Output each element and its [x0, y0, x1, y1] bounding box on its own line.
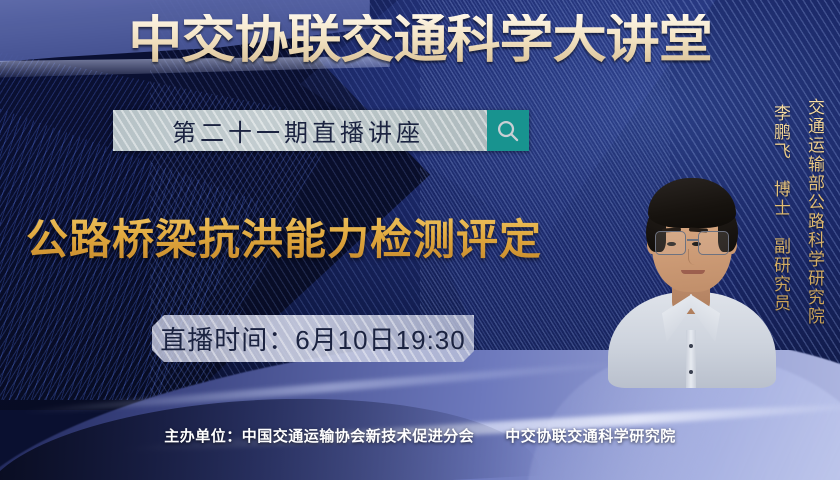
episode-label: 第二十一期直播讲座 — [172, 113, 428, 148]
glasses-lens-right — [698, 231, 729, 255]
organizers-footer: 主办单位：中国交通运输协会新技术促进分会 中交协联交通科学研究院 — [0, 425, 840, 446]
portrait-hair-top — [648, 178, 736, 228]
speaker-name-title: 李鹏飞 博士 副研究员 — [771, 104, 790, 313]
episode-banner: 第二十一期直播讲座 — [113, 110, 529, 151]
glasses-lens-left — [655, 231, 686, 255]
episode-banner-body: 第二十一期直播讲座 — [113, 110, 487, 151]
portrait-mouth — [681, 270, 705, 274]
portrait-shirt-button-bottom — [689, 370, 693, 374]
page-title: 中交协联交通科学大讲堂 — [0, 14, 840, 66]
portrait-shirt-button-top — [689, 344, 693, 348]
glasses-bridge — [687, 239, 698, 241]
speaker-portrait — [624, 142, 758, 388]
lecture-headline: 公路桥梁抗洪能力检测评定 — [26, 206, 542, 267]
broadcast-time-text: 直播时间：6月10日19:30 — [160, 320, 465, 357]
search-icon[interactable] — [487, 110, 529, 151]
live-broadcast-poster: 中交协联交通科学大讲堂 第二十一期直播讲座 公路桥梁抗洪能力检测评定 直播时间：… — [0, 0, 840, 480]
portrait-nose — [688, 249, 697, 265]
speaker-organization: 交通运输部公路科学研究院 — [805, 98, 824, 326]
broadcast-time-badge: 直播时间：6月10日19:30 — [152, 315, 474, 362]
portrait-shirt-placket — [686, 330, 696, 388]
